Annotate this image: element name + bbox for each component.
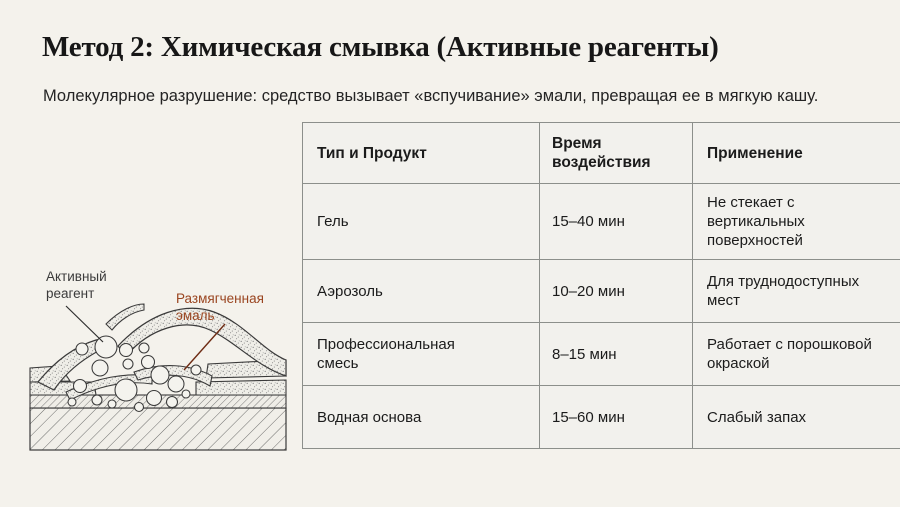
diagram-illustration — [0, 250, 300, 502]
cell-type: Гель — [303, 184, 540, 260]
table-row: Гель 15–40 мин Не стекает с вертикальных… — [303, 184, 900, 260]
table-row: Водная основа 15–60 мин Слабый запах — [303, 386, 900, 449]
cross-section-diagram: Активный реагент Размягченная эмаль — [0, 250, 300, 502]
cell-time: 10–20 мин — [540, 260, 693, 323]
page-subtitle: Молекулярное разрушение: средство вызыва… — [43, 84, 855, 109]
substrate-layer — [30, 408, 286, 450]
product-comparison-table: Тип и Продукт Время воздействия Применен… — [302, 122, 900, 449]
cell-type: Профессиональная смесь — [303, 323, 540, 386]
table-header-usage: Применение — [693, 123, 900, 184]
table-header-row: Тип и Продукт Время воздействия Применен… — [303, 123, 900, 184]
cell-type: Водная основа — [303, 386, 540, 449]
cell-usage: Работает с порошковой окраской — [693, 323, 900, 386]
cell-usage: Слабый запах — [693, 386, 900, 449]
table-row: Аэрозоль 10–20 мин Для труднодоступных м… — [303, 260, 900, 323]
leader-line-reagent — [66, 306, 103, 342]
diagram-label-active-reagent: Активный реагент — [46, 268, 107, 302]
table-header-time: Время воздействия — [540, 123, 693, 184]
cell-time: 15–40 мин — [540, 184, 693, 260]
cell-type: Аэрозоль — [303, 260, 540, 323]
diagram-label-softened-enamel: Размягченная эмаль — [176, 290, 264, 324]
table-header-type: Тип и Продукт — [303, 123, 540, 184]
page-title: Метод 2: Химическая смывка (Активные реа… — [42, 30, 872, 64]
slide-canvas: Метод 2: Химическая смывка (Активные реа… — [0, 0, 900, 502]
cell-usage: Для труднодоступных мест — [693, 260, 900, 323]
cell-usage: Не стекает с вертикальных поверхностей — [693, 184, 900, 260]
cell-time: 15–60 мин — [540, 386, 693, 449]
table-row: Профессиональная смесь 8–15 мин Работает… — [303, 323, 900, 386]
cell-time: 8–15 мин — [540, 323, 693, 386]
